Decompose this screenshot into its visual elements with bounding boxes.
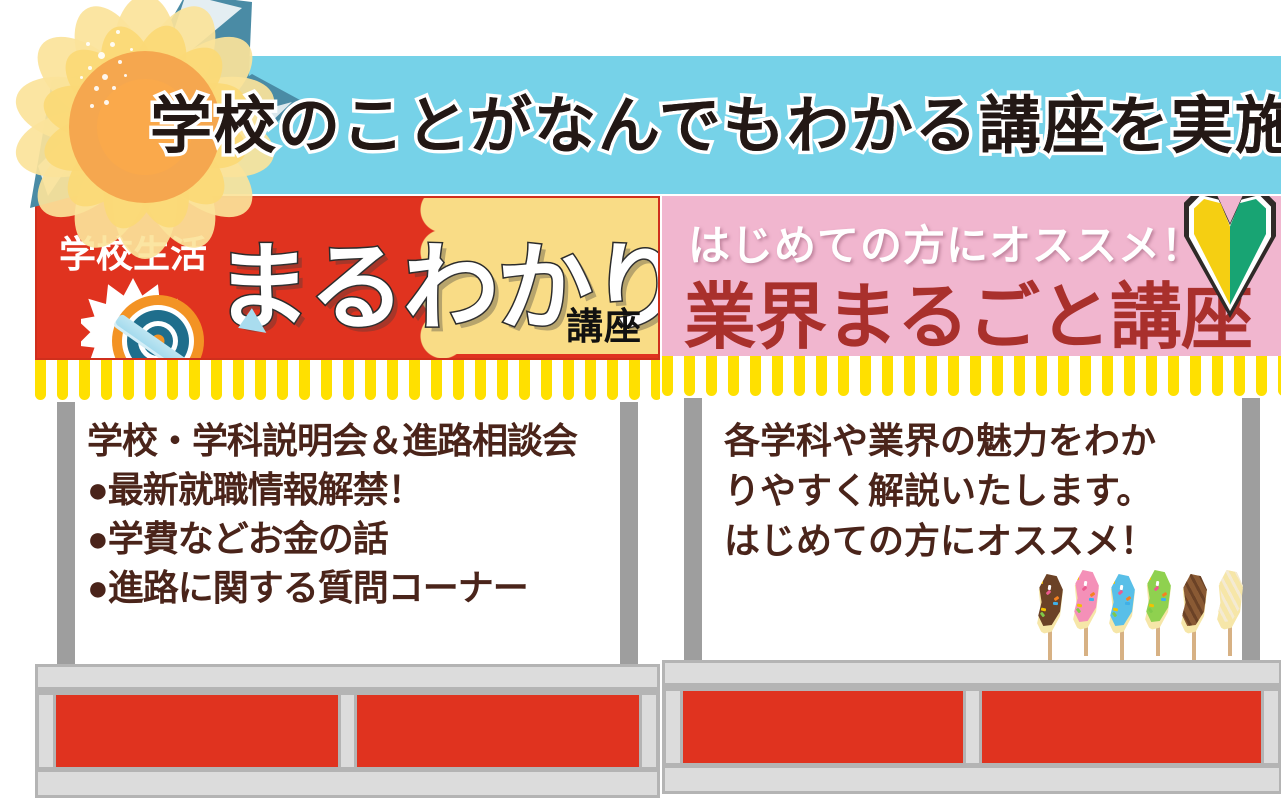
awning-stripe (860, 356, 871, 396)
stall-left-body: 学校・学科説明会＆進路相談会 ●最新就職情報解禁！ ●学費などお金の話 ●進路に… (35, 402, 660, 664)
banana-sprinkle (1118, 590, 1124, 596)
counter-panels (662, 686, 1281, 768)
awning-stripe (882, 356, 893, 396)
awning-stripe (651, 360, 660, 400)
banana-sprinkle (1112, 612, 1117, 618)
stall-left-counter (35, 664, 660, 798)
sunflower-core-dot (90, 104, 94, 108)
banana-sprinkle (1076, 575, 1079, 580)
list-item: はじめての方にオススメ！ (724, 516, 1281, 566)
page-title: 学校のことがなんでもわかる講座を実施！ (150, 82, 1250, 172)
awning-stripe (1234, 356, 1245, 396)
awning-stripe (519, 360, 530, 400)
awning-stripe (541, 360, 552, 400)
counter-panel (56, 695, 338, 767)
awning-stripe (189, 360, 200, 400)
awning-stripe (1014, 356, 1025, 396)
sunflower-core-dot (102, 74, 108, 80)
awning-bars (662, 356, 1281, 398)
wakaba-beginner-mark-icon (1184, 196, 1276, 318)
counter-side-right (642, 695, 656, 767)
stall-right-body: 各学科や業界の魅力をわか りやすく解説いたします。 はじめての方にオススメ！ (662, 398, 1281, 660)
stall-left: 学校生活 まるわかり 講座 学校・学科説明会＆進路相談会 (35, 196, 660, 798)
awning-stripe (607, 360, 618, 400)
sunflower-core-dot (112, 86, 116, 90)
stall-left-title-suffix: 講座 (566, 296, 642, 350)
banana-sprinkle (1154, 586, 1160, 592)
awning-stripe (277, 360, 288, 400)
awning-stripe (1080, 356, 1091, 396)
stall-right-text-block: 各学科や業界の魅力をわか りやすく解説いたします。 はじめての方にオススメ！ (662, 398, 1281, 566)
counter-bottom-rail (662, 768, 1281, 794)
list-item: ●最新就職情報解禁！ (87, 465, 660, 514)
awning-stripe (926, 356, 937, 396)
choco-banana-item (1107, 574, 1137, 660)
choco-banana-item (1215, 570, 1245, 656)
stall-right-title: 業界まるごと講座 (684, 258, 1252, 356)
stall-left-text-block: 学校・学科説明会＆進路相談会 ●最新就職情報解禁！ ●学費などお金の話 ●進路に… (35, 402, 660, 612)
awning-stripe (35, 360, 46, 400)
banana-sprinkle (1090, 592, 1096, 597)
awning-stripe (255, 360, 266, 400)
awning-stripe (79, 360, 90, 400)
awning-stripe (1190, 356, 1201, 396)
awning-stripe (1256, 356, 1267, 396)
counter-side-right (1264, 691, 1278, 763)
banana-sprinkle (1112, 579, 1115, 584)
awning-stripe (409, 360, 420, 400)
awning-stripe (662, 356, 673, 396)
banana-sprinkle (1040, 612, 1045, 618)
list-item: 各学科や業界の魅力をわか (724, 416, 1281, 466)
counter-panel (982, 691, 1262, 763)
awning-stripe (585, 360, 596, 400)
banana-sprinkle (1076, 608, 1081, 614)
counter-panel (683, 691, 963, 763)
awning-stripe (299, 360, 310, 400)
banana-sprinkle (1082, 586, 1088, 592)
awning-stripe (992, 356, 1003, 396)
awning-stripe (794, 356, 805, 396)
choco-banana-display (1035, 572, 1250, 660)
stall-right: はじめての方にオススメ！ 業界まるごと講座 各学科や業界の魅力をわか りやすく解… (662, 196, 1281, 794)
awning-stripe (1102, 356, 1113, 396)
awning-stripe (233, 360, 244, 400)
counter-panel (357, 695, 639, 767)
counter-bottom-rail (35, 772, 660, 798)
choco-banana-item (1179, 574, 1209, 660)
sunflower-core-dot (124, 74, 127, 77)
counter-top-rail (35, 664, 660, 690)
list-item: ●学費などお金の話 (87, 514, 660, 563)
choco-banana-item (1071, 570, 1101, 656)
awning-stripe (629, 360, 640, 400)
awning-stripe (497, 360, 508, 400)
awning-stripe (684, 356, 695, 396)
choco-banana-item (1035, 574, 1065, 660)
poster-canvas: 学校のことがなんでもわかる講座を実施！ 学校のことがなんでもわかる講座を実施！ … (0, 0, 1281, 800)
banana-sprinkle (1120, 585, 1124, 590)
awning-stripe (123, 360, 134, 400)
sunflower-core-dot (86, 42, 90, 46)
counter-divider (966, 691, 979, 763)
awning-stripe (904, 356, 915, 396)
awning-stripe (750, 356, 761, 396)
sunflower-core-dot (80, 76, 83, 79)
awning-stripe (365, 360, 376, 400)
sunflower-core-dot (94, 86, 99, 91)
stall-right-awning-fringe (662, 356, 1281, 398)
awning-stripe (57, 360, 68, 400)
counter-divider (341, 695, 354, 767)
awning-stripe (706, 356, 717, 396)
awning-stripe (1168, 356, 1179, 396)
banana-sprinkle (1053, 602, 1058, 605)
awning-stripe (145, 360, 156, 400)
awning-stripe (970, 356, 981, 396)
sunflower-core-dot (130, 48, 133, 51)
awning-stripe (1146, 356, 1157, 396)
stall-right-counter (662, 660, 1281, 794)
awning-stripe (431, 360, 442, 400)
target-dartboard-icon (99, 282, 217, 360)
banana-sprinkle (1046, 590, 1052, 596)
sunflower-core-dot (104, 100, 109, 105)
awning-stripe (1124, 356, 1135, 396)
awning-stripe (816, 356, 827, 396)
awning-stripe (101, 360, 112, 400)
banana-sprinkle (1125, 602, 1130, 605)
banana-sprinkle (1089, 598, 1094, 601)
awning-stripe (167, 360, 178, 400)
counter-side-left (666, 691, 680, 763)
banana-sprinkle (1161, 598, 1166, 601)
sunflower-core-dot (88, 66, 92, 70)
banana-sprinkle (1040, 579, 1043, 584)
awning-bars (35, 360, 660, 402)
banana-sprinkle (1148, 575, 1151, 580)
counter-panels (35, 690, 660, 772)
awning-stripe (772, 356, 783, 396)
awning-stripe (343, 360, 354, 400)
awning-stripe (475, 360, 486, 400)
banana-sprinkle (1156, 581, 1160, 586)
sunflower-core-dot (118, 60, 122, 64)
awning-stripe (453, 360, 464, 400)
stall-right-banner: はじめての方にオススメ！ 業界まるごと講座 (662, 196, 1281, 356)
awning-stripe (948, 356, 959, 396)
banana-sprinkle (1162, 592, 1168, 597)
sunflower-core-dot (110, 42, 115, 47)
counter-side-left (39, 695, 53, 767)
banana-sprinkle (1054, 596, 1060, 601)
awning-stripe (838, 356, 849, 396)
awning-stripe (1212, 356, 1223, 396)
banana-sprinkle (1048, 585, 1052, 590)
choco-banana-item (1143, 570, 1173, 656)
awning-stripe (1036, 356, 1047, 396)
awning-stripe (728, 356, 739, 396)
awning-stripe (1058, 356, 1069, 396)
sunflower-core-dot (98, 52, 105, 59)
banana-sprinkle (1084, 581, 1088, 586)
stall-left-awning-fringe (35, 360, 660, 402)
sunflower-core-dot (116, 30, 120, 34)
banana-sprinkle (1148, 608, 1153, 614)
counter-top-rail (662, 660, 1281, 686)
awning-stripe (211, 360, 222, 400)
list-item: りやすく解説いたします。 (724, 466, 1281, 516)
banana-sprinkle (1126, 596, 1132, 601)
awning-stripe (563, 360, 574, 400)
awning-stripe (387, 360, 398, 400)
awning-stripe (321, 360, 332, 400)
list-item: ●進路に関する質問コーナー (87, 563, 660, 612)
list-item: 学校・学科説明会＆進路相談会 (87, 416, 660, 465)
